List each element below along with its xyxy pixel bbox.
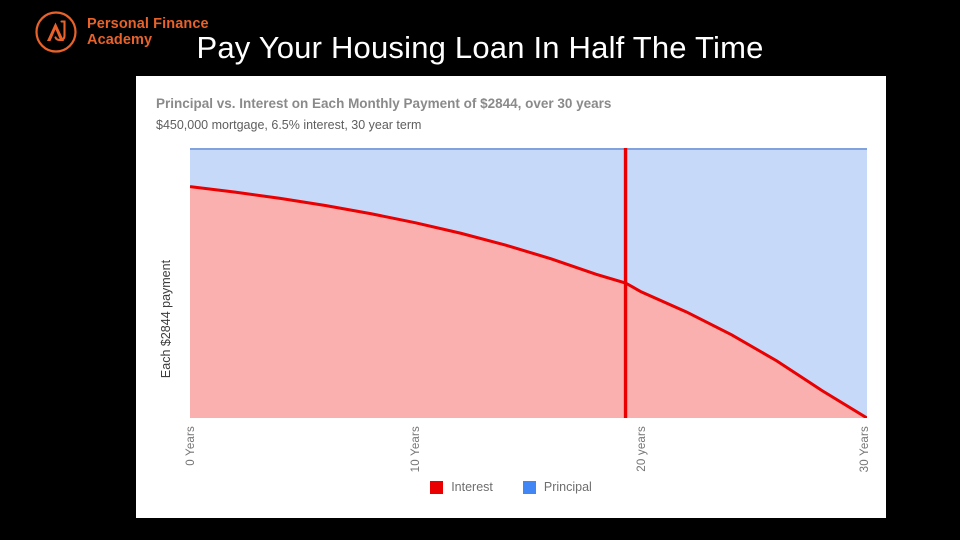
legend-item-interest[interactable]: Interest bbox=[430, 480, 493, 494]
x-tick-0: 0 Years bbox=[185, 426, 197, 466]
legend-item-principal[interactable]: Principal bbox=[523, 480, 592, 494]
chart-card: Principal vs. Interest on Each Monthly P… bbox=[136, 76, 886, 518]
legend-label-principal: Principal bbox=[544, 480, 592, 494]
page-title: Pay Your Housing Loan In Half The Time bbox=[0, 30, 960, 66]
chart-subtitle: $450,000 mortgage, 6.5% interest, 30 yea… bbox=[156, 118, 421, 132]
chart-svg bbox=[190, 148, 867, 418]
plot-area: Each $2844 payment 0 Years 10 Years 20 y… bbox=[190, 148, 867, 418]
x-tick-20: 20 years bbox=[636, 426, 648, 472]
x-tick-10: 10 Years bbox=[410, 426, 422, 472]
legend-swatch-principal bbox=[523, 481, 536, 494]
x-tick-30: 30 Years bbox=[859, 426, 871, 472]
y-axis-label: Each $2844 payment bbox=[159, 234, 173, 404]
chart-title: Principal vs. Interest on Each Monthly P… bbox=[156, 96, 611, 111]
chart-legend: Interest Principal bbox=[136, 480, 886, 494]
legend-label-interest: Interest bbox=[451, 480, 493, 494]
legend-swatch-interest bbox=[430, 481, 443, 494]
slide-canvas: Personal Finance Academy Pay Your Housin… bbox=[0, 0, 960, 540]
